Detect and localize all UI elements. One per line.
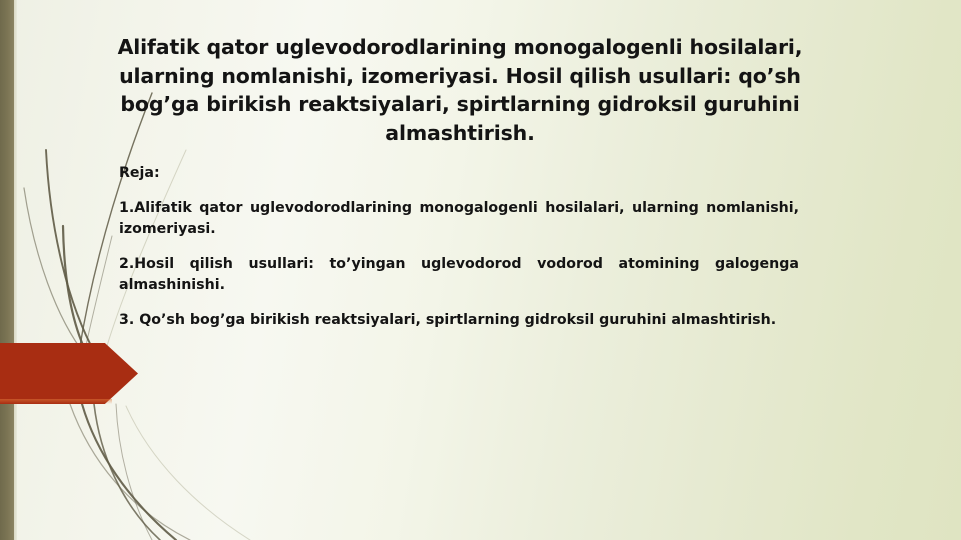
body-item-3: 3. Qo’sh bog’ga birikish reaktsiyalari, … xyxy=(119,310,799,332)
left-accent-bar xyxy=(0,0,14,540)
arrow-accent-glow xyxy=(0,399,112,404)
left-accent-bar-edge xyxy=(14,0,17,540)
body-item-2: 2.Hosil qilish usullari: to’yingan uglev… xyxy=(119,254,799,297)
slide-body: Reja: 1.Alifatik qator uglevodorodlarini… xyxy=(119,163,799,331)
body-heading-reja: Reja: xyxy=(119,163,799,185)
body-item-1: 1.Alifatik qator uglevodorodlarining mon… xyxy=(119,198,799,241)
arrow-accent-shape xyxy=(0,343,138,404)
slide-title: Alifatik qator uglevodorodlarining monog… xyxy=(110,33,810,147)
slide-canvas: Alifatik qator uglevodorodlarining monog… xyxy=(0,0,961,540)
